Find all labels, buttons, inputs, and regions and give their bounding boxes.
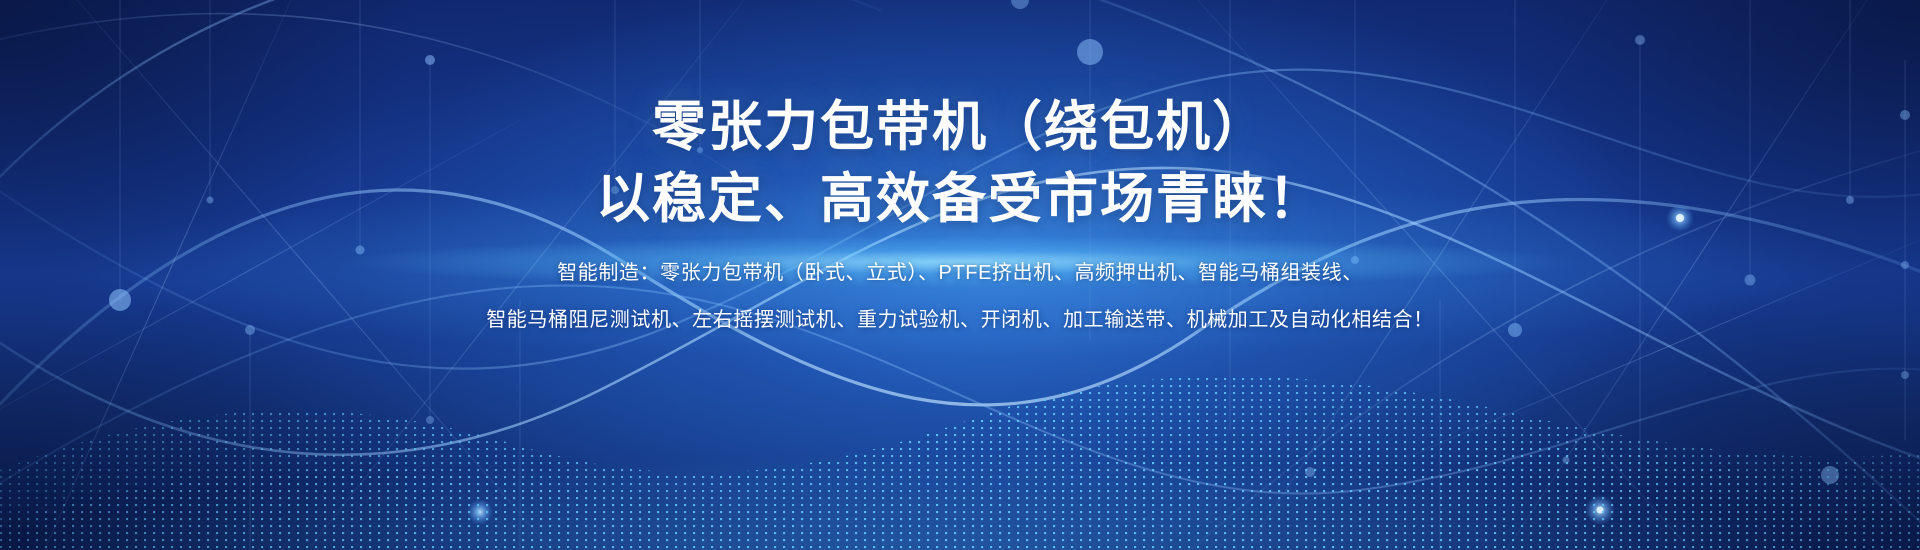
subtitle-block: 智能制造：零张力包带机（卧式、立式）、PTFE挤出机、高频押出机、智能马桶组装线… — [0, 257, 1920, 337]
subtitle-line-2: 智能马桶阻尼测试机、左右摇摆测试机、重力试验机、开闭机、加工输送带、机械加工及自… — [0, 304, 1920, 337]
headline-secondary: 以稳定、高效备受市场青睐！ — [0, 168, 1920, 232]
hero-content: 零张力包带机（绕包机） 以稳定、高效备受市场青睐！ 智能制造：零张力包带机（卧式… — [0, 96, 1920, 337]
subtitle-line-1: 智能制造：零张力包带机（卧式、立式）、PTFE挤出机、高频押出机、智能马桶组装线… — [0, 257, 1920, 290]
hero-banner: 零张力包带机（绕包机） 以稳定、高效备受市场青睐！ 智能制造：零张力包带机（卧式… — [0, 0, 1920, 550]
headline-primary: 零张力包带机（绕包机） — [0, 96, 1920, 160]
